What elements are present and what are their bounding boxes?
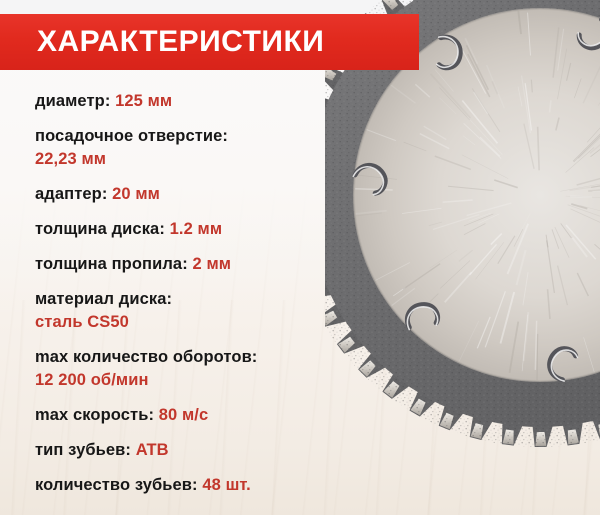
spec-row: тип зубьев: ATB: [35, 439, 365, 462]
spec-label: толщина пропила:: [35, 255, 188, 273]
spec-label: диаметр:: [35, 92, 110, 110]
spec-row: max скорость: 80 м/с: [35, 404, 365, 427]
spec-row: толщина пропила: 2 мм: [35, 253, 365, 276]
spec-value: 20 мм: [112, 185, 160, 203]
spec-value: 12 200 об/мин: [35, 369, 365, 392]
spec-row: диаметр: 125 мм: [35, 90, 365, 113]
spec-label: материал диска:: [35, 290, 172, 308]
spec-row: количество зубьев: 48 шт.: [35, 474, 365, 497]
spec-row: материал диска:сталь CS50: [35, 288, 365, 334]
spec-value: 125 мм: [115, 92, 172, 110]
spec-value: 48 шт.: [202, 476, 251, 494]
spec-row: толщина диска: 1.2 мм: [35, 218, 365, 241]
specification-list: диаметр: 125 ммпосадочное отверстие:22,2…: [35, 90, 365, 497]
spec-label: толщина диска:: [35, 220, 165, 238]
spec-label: max скорость:: [35, 406, 154, 424]
spec-value: 22,23 мм: [35, 148, 365, 171]
spec-label: тип зубьев:: [35, 441, 131, 459]
spec-value: 80 м/с: [159, 406, 209, 424]
spec-value: 2 мм: [192, 255, 231, 273]
spec-label: max количество оборотов:: [35, 348, 257, 366]
spec-value: сталь CS50: [35, 311, 365, 334]
page-title: ХАРАКТЕРИСТИКИ: [37, 22, 417, 62]
spec-label: адаптер:: [35, 185, 107, 203]
spec-value: ATB: [136, 441, 169, 459]
spec-value: 1.2 мм: [170, 220, 223, 238]
spec-label: посадочное отверстие:: [35, 127, 228, 145]
spec-row: адаптер: 20 мм: [35, 183, 365, 206]
spec-row: посадочное отверстие:22,23 мм: [35, 125, 365, 171]
spec-row: max количество оборотов:12 200 об/мин: [35, 346, 365, 392]
spec-sheet-page: Ø ХАРАКТЕРИСТИКИ диаметр: 125 ммпосадочн…: [0, 0, 600, 515]
saw-blade-image: Ø: [325, 0, 600, 495]
spec-label: количество зубьев:: [35, 476, 198, 494]
